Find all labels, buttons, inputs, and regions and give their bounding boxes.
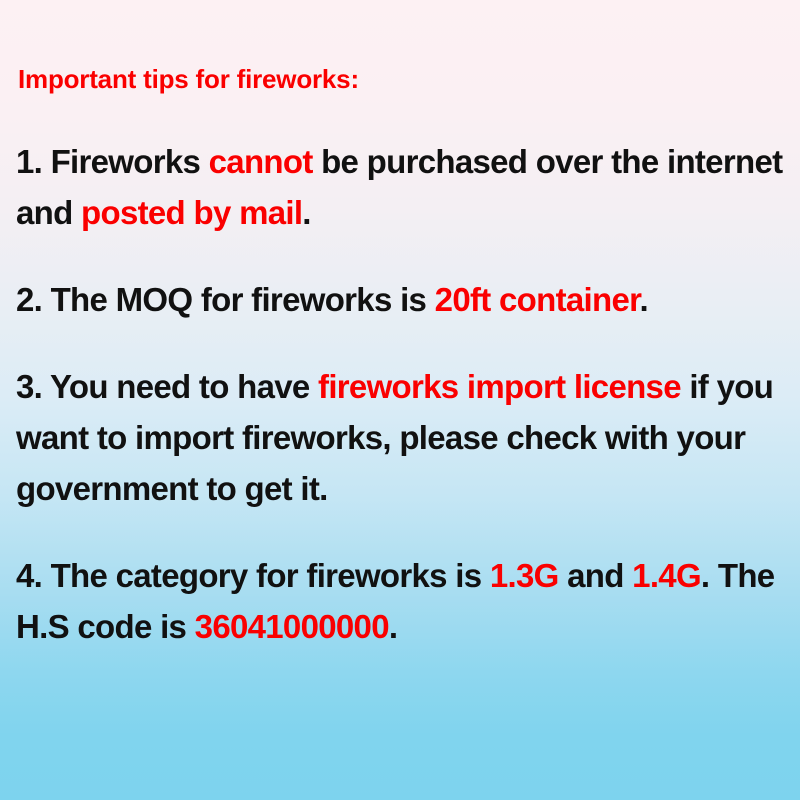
notice-content: Important tips for fireworks: 1. Firewor… (16, 62, 784, 652)
page-title: Important tips for fireworks: (18, 62, 784, 96)
tip-text: . (389, 608, 397, 645)
tips-list: 1. Fireworks cannot be purchased over th… (16, 136, 784, 652)
tip-text: and (559, 557, 633, 594)
tip-text: . (302, 194, 310, 231)
tip-text: 3. You need to have (16, 368, 318, 405)
tip-item-1: 1. Fireworks cannot be purchased over th… (16, 136, 784, 238)
tip-item-3: 3. You need to have fireworks import lic… (16, 361, 784, 514)
highlighted-text: cannot (209, 143, 313, 180)
tip-text: 1. Fireworks (16, 143, 209, 180)
highlighted-text: 20ft container (435, 281, 640, 318)
highlighted-text: posted by mail (81, 194, 302, 231)
highlighted-text: 1.3G (490, 557, 559, 594)
tip-text: 2. The MOQ for fireworks is (16, 281, 435, 318)
tip-text: . (639, 281, 647, 318)
tip-text: 4. The category for fireworks is (16, 557, 490, 594)
highlighted-text: fireworks import license (318, 368, 681, 405)
tip-item-2: 2. The MOQ for fireworks is 20ft contain… (16, 274, 784, 325)
highlighted-text: 36041000000 (195, 608, 389, 645)
highlighted-text: 1.4G (632, 557, 701, 594)
tip-item-4: 4. The category for fireworks is 1.3G an… (16, 550, 784, 652)
fireworks-tips-notice: Important tips for fireworks: 1. Firewor… (0, 0, 800, 800)
